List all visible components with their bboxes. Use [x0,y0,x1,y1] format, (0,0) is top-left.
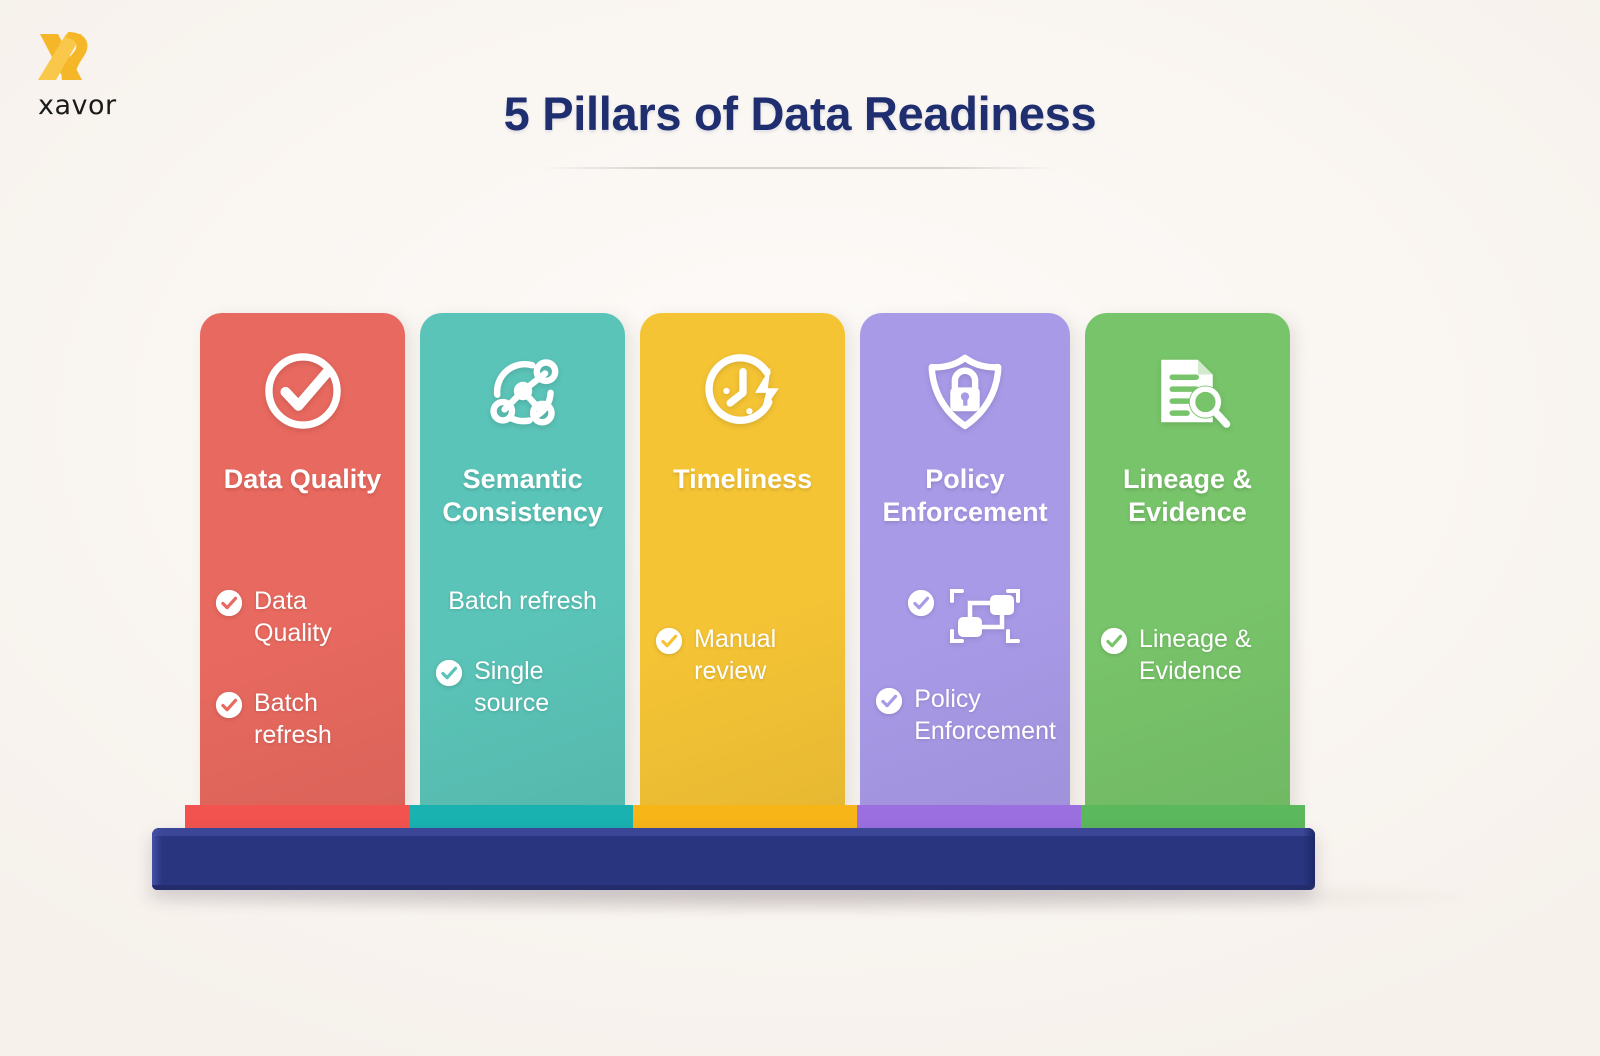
pillar-bullet: Lineage & Evidence [1099,623,1276,687]
check-circle-icon [434,658,464,688]
platform-top-bevel [152,828,1315,836]
check-circle-icon [214,588,244,618]
check-circle-icon [874,686,904,716]
shield-lock-icon [919,345,1011,437]
check-circle-icon [906,588,936,618]
pillars-row: Data Quality Data Quality Batch refresh … [200,313,1290,813]
pillar-bullets: Policy Enforcement [874,585,1056,747]
pillars-diagram: Data Quality Data Quality Batch refresh … [0,0,1600,1056]
pillar-bullet-label: Policy Enforcement [914,683,1056,747]
pillar-bullet [906,585,1024,645]
flow-diagram-icon [946,587,1024,645]
network-nodes-icon [477,345,569,437]
pillar-bullet-label: Data Quality [254,585,391,649]
pillar-card-data-quality[interactable]: Data Quality Data Quality Batch refresh [200,313,405,813]
pillar-bullet-label: Manual review [694,623,831,687]
pillar-bullet-label: Single source [474,655,611,719]
document-search-icon [1141,345,1233,437]
pillar-bullets: Manual review [654,585,831,687]
platform-right-bevel [1303,828,1315,890]
pillar-bullet: Policy Enforcement [874,683,1056,747]
check-circle-icon [1099,626,1129,656]
pillar-card-semantic-consistency[interactable]: Semantic ConsistencyBatch refresh Single… [420,313,625,813]
pillar-bullet: Manual review [654,623,831,687]
pillar-bullet-label: Batch refresh [254,687,391,751]
pillar-bullet: Batch refresh [448,585,597,617]
check-circle-icon [214,690,244,720]
pillar-title: Semantic Consistency [434,463,611,533]
pillar-bullets: Batch refresh Single source [434,585,611,719]
pillar-title: Lineage & Evidence [1099,463,1276,533]
pillar-card-timeliness[interactable]: Timeliness Manual review [640,313,845,813]
circle-check-icon [257,345,349,437]
pillar-card-policy-enforcement[interactable]: Policy Enforcement Policy Enforcement [860,313,1070,813]
base-platform [152,828,1315,890]
platform-bottom-bevel [152,885,1315,890]
pillar-bullet-label: Lineage & Evidence [1139,623,1276,687]
pillar-bullet-label: Batch refresh [448,585,597,617]
pillar-bullet: Data Quality [214,585,391,649]
pillar-card-lineage-evidence[interactable]: Lineage & Evidence Lineage & Evidence [1085,313,1290,813]
pillar-bullets: Lineage & Evidence [1099,585,1276,687]
check-circle-icon [654,626,684,656]
pillar-title: Data Quality [224,463,382,533]
pillar-title: Timeliness [673,463,812,533]
pillar-bullet: Batch refresh [214,687,391,751]
pillar-bullet: Single source [434,655,611,719]
pillar-title: Policy Enforcement [874,463,1056,533]
clock-bolt-icon [697,345,789,437]
platform-left-bevel [152,828,162,890]
pillar-bullets: Data Quality Batch refresh [214,585,391,751]
